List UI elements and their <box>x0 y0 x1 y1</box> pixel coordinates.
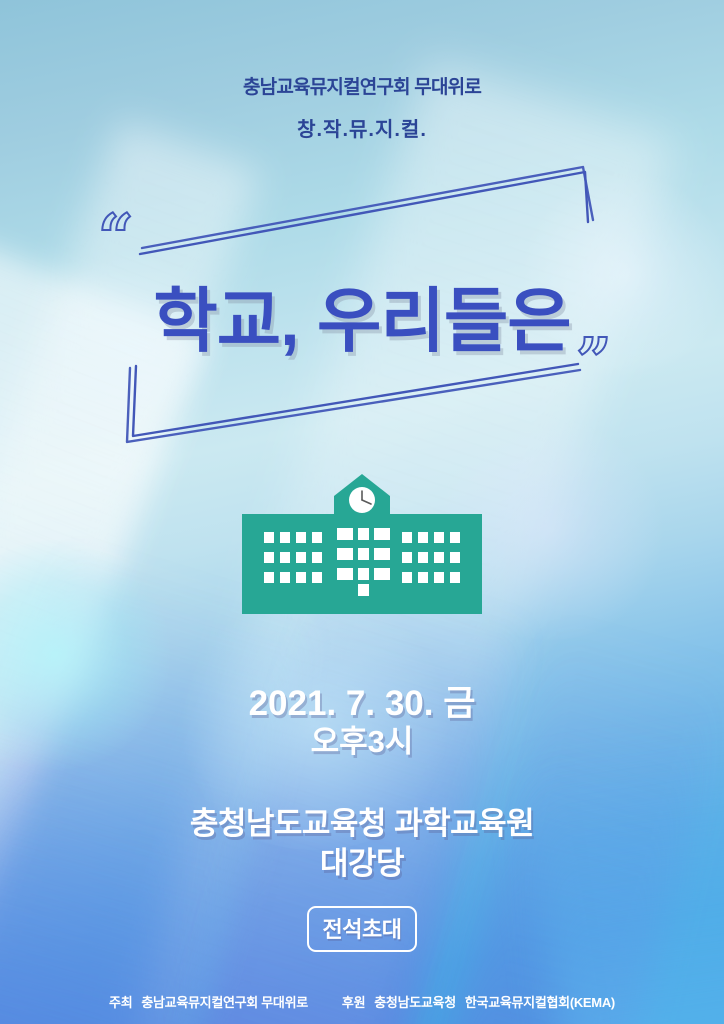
free-admission-badge: 전석초대 <box>307 906 418 952</box>
sponsor-group: 후원 충청남도교육청 한국교육뮤지컬협회(KEMA) <box>342 992 615 1011</box>
event-info-block: 2021. 7. 30. 금 오후3시 충청남도교육청 과학교육원 대강당 전석… <box>0 684 724 952</box>
sponsor-label: 후원 <box>342 992 365 1011</box>
genre-subtitle: 창.작.뮤.지.컬. <box>0 113 724 142</box>
host-group: 주최 충남교육뮤지컬연구회 무대위로 <box>109 992 308 1011</box>
school-building-icon <box>242 474 482 614</box>
host-label: 주최 <box>109 992 132 1011</box>
bracket-bottom <box>133 364 578 436</box>
sponsor-name-2: 한국교육뮤지컬협회(KEMA) <box>465 992 615 1011</box>
footer-credits: 주최 충남교육뮤지컬연구회 무대위로 후원 충청남도교육청 한국교육뮤지컬협회(… <box>0 992 724 1011</box>
event-venue: 충청남도교육청 과학교육원 대강당 <box>0 804 724 883</box>
event-date: 2021. 7. 30. 금 <box>0 684 724 723</box>
poster-canvas: 충남교육뮤지컬연구회 무대위로 창.작.뮤.지.컬. “ ” 학교, 우리들은 <box>0 0 724 1024</box>
event-time: 오후3시 <box>0 723 724 762</box>
bracket-top <box>140 172 588 254</box>
badge-container: 전석초대 <box>0 906 724 952</box>
venue-line-1: 충청남도교육청 과학교육원 <box>0 804 724 844</box>
organizer-tagline: 충남교육뮤지컬연구회 무대위로 <box>0 76 724 100</box>
bracket-top-inner <box>142 167 593 248</box>
poster-title: 학교, 우리들은 <box>0 265 724 366</box>
bracket-bottom-inner <box>127 368 580 442</box>
host-name: 충남교육뮤지컬연구회 무대위로 <box>141 992 308 1011</box>
open-quote-icon: “ <box>98 206 134 268</box>
venue-line-2: 대강당 <box>0 844 724 884</box>
sponsor-name-1: 충청남도교육청 <box>374 992 456 1011</box>
header-block: 충남교육뮤지컬연구회 무대위로 창.작.뮤.지.컬. <box>0 76 724 142</box>
